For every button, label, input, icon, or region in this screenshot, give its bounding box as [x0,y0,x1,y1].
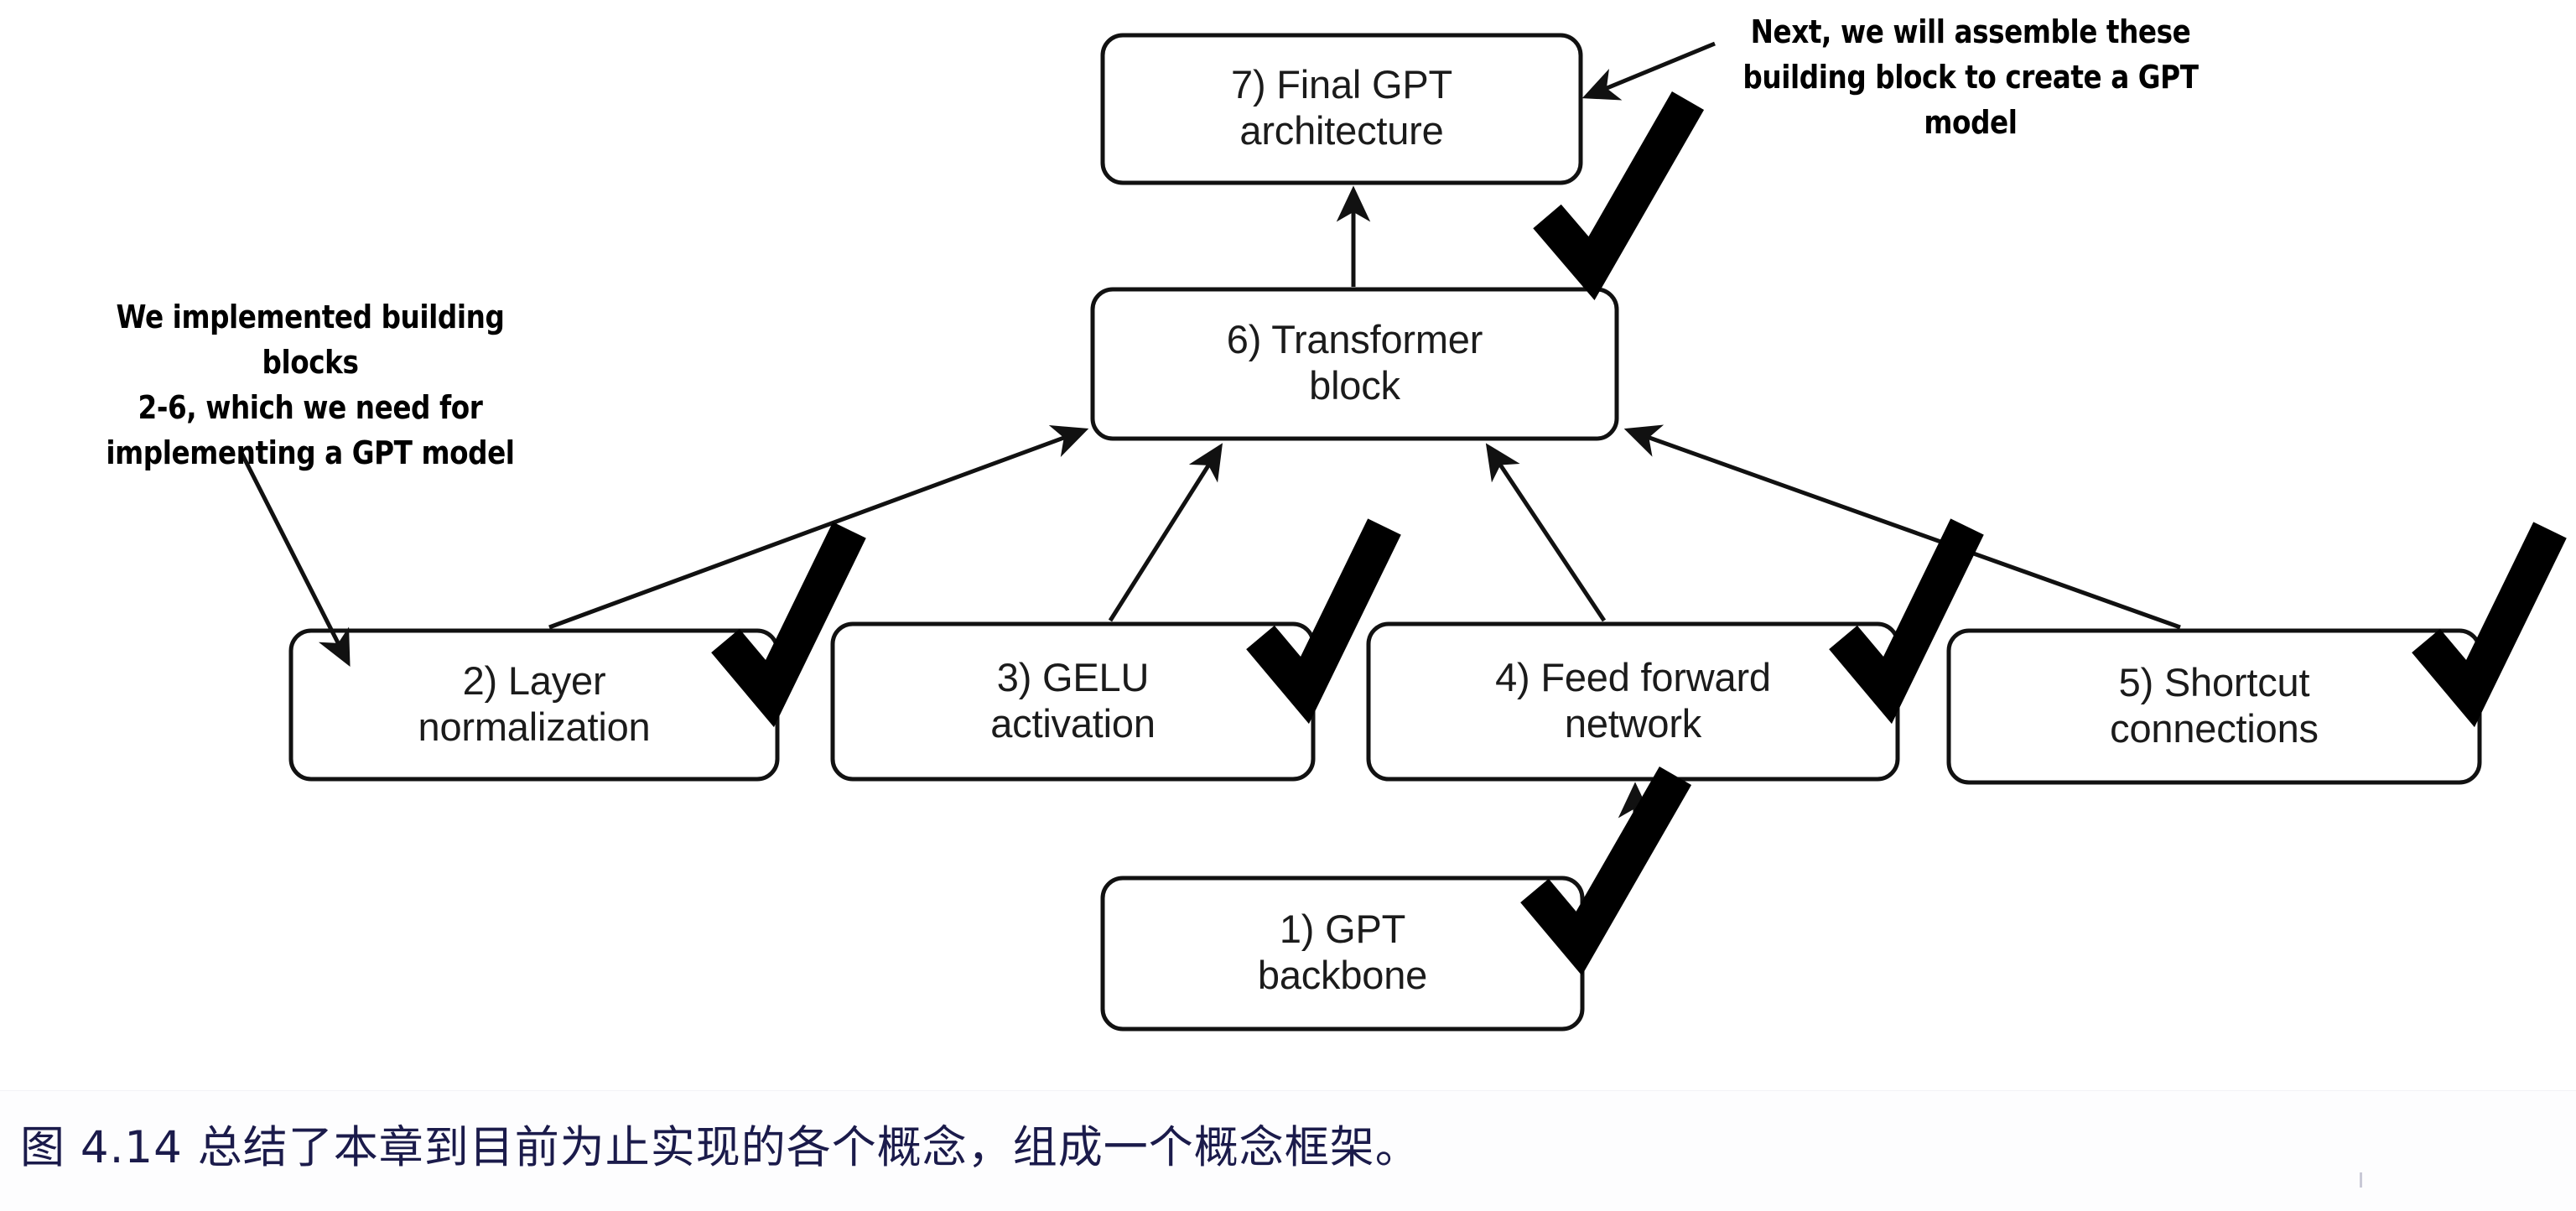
annotation-right-leader-arrow [1587,44,1715,96]
node-label-3[interactable]: 3) GELU activation [833,624,1313,779]
node-label-6[interactable]: 6) Transformer block [1093,289,1617,439]
node-label-7[interactable]: 7) Final GPT architecture [1103,35,1581,183]
annotation-left-text: We implemented building blocks 2-6, whic… [94,295,527,476]
node-label-5[interactable]: 5) Shortcut connections [1949,631,2480,782]
edge-3-to-6 [1110,447,1220,621]
edge-5-to-6 [1628,430,2180,627]
figure-caption: 图 4.14 总结了本章到目前为止实现的各个概念，组成一个概念框架。 [20,1121,1420,1175]
node-label-2[interactable]: 2) Layer normalization [291,631,777,779]
checkmark-group [725,101,2550,943]
text-caret-icon [2360,1172,2362,1188]
annotation-right-text: Next, we will assemble these building bl… [1711,10,2230,146]
caption-band: 图 4.14 总结了本章到目前为止实现的各个概念，组成一个概念框架。 [0,1090,2576,1211]
page-root: 7) Final GPT architecture 6) Transformer… [0,0,2576,1211]
edge-4-to-6 [1488,447,1604,621]
diagram-canvas: 7) Final GPT architecture 6) Transformer… [0,0,2576,1090]
node-label-1[interactable]: 1) GPT backbone [1103,878,1582,1029]
node-label-4[interactable]: 4) Feed forward network [1368,624,1898,779]
